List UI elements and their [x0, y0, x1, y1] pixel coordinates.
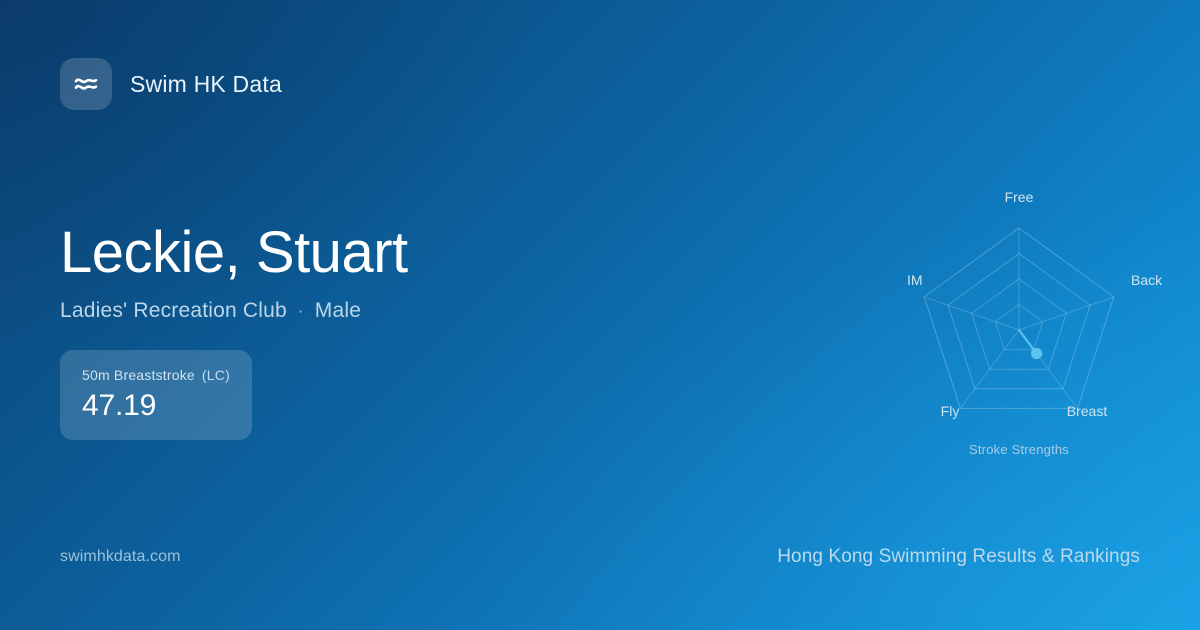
event-name: 50m Breaststroke	[82, 367, 195, 383]
course-badge: (LC)	[202, 367, 230, 383]
best-time-value: 47.19	[82, 390, 230, 422]
meta-separator: ·	[298, 302, 304, 319]
radar-label-breast: Breast	[1067, 403, 1108, 419]
stroke-strengths-radar: Free Back Breast Fly IM Stroke Strengths	[869, 180, 1169, 470]
hero-block: Leckie, Stuart Ladies' Recreation Club ·…	[60, 222, 760, 323]
radar-label-back: Back	[1131, 272, 1163, 288]
share-card: Swim HK Data Leckie, Stuart Ladies' Recr…	[0, 0, 1200, 630]
club-name: Ladies' Recreation Club	[60, 299, 287, 323]
site-tagline: Hong Kong Swimming Results & Rankings	[777, 546, 1140, 568]
page-title: Leckie, Stuart	[60, 222, 760, 285]
radar-point-breast	[1031, 348, 1042, 359]
radar-label-im: IM	[907, 272, 923, 288]
radar-label-free: Free	[1005, 189, 1034, 205]
brand-name: Swim HK Data	[130, 71, 282, 98]
gender-label: Male	[315, 299, 361, 323]
radar-grid	[924, 228, 1114, 408]
event-label: 50m Breaststroke (LC)	[82, 367, 230, 383]
athlete-meta: Ladies' Recreation Club · Male	[60, 299, 760, 323]
radar-label-fly: Fly	[941, 403, 960, 419]
radar-caption: Stroke Strengths	[869, 442, 1169, 457]
wave-icon	[60, 58, 112, 110]
site-url: swimhkdata.com	[60, 548, 181, 566]
brand-lockup: Swim HK Data	[60, 58, 282, 110]
best-time-card: 50m Breaststroke (LC) 47.19	[60, 350, 252, 440]
